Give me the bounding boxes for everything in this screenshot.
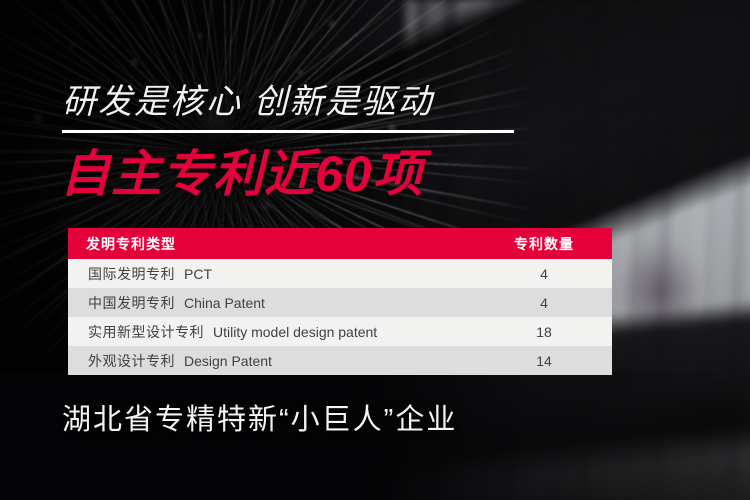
patent-type-en: Utility model design patent [213, 324, 377, 340]
cell-patent-type: 国际发明专利PCT [68, 264, 484, 284]
patent-type-en: Design Patent [184, 353, 272, 369]
headline-primary: 研发是核心 创新是驱动 [62, 80, 433, 124]
banner-caption: 湖北省专精特新“小巨人”企业 [62, 400, 457, 440]
cell-patent-type: 中国发明专利China Patent [68, 293, 484, 313]
table-row: 国际发明专利PCT 4 [68, 259, 612, 288]
cell-patent-type: 实用新型设计专利Utility model design patent [68, 322, 484, 342]
table-row: 实用新型设计专利Utility model design patent 18 [68, 317, 612, 346]
cell-patent-count: 14 [484, 353, 612, 369]
patent-type-cn: 实用新型设计专利 [88, 324, 204, 340]
cell-patent-count: 18 [484, 324, 612, 340]
patent-type-cn: 外观设计专利 [88, 353, 175, 369]
column-header-patent-type: 发明专利类型 [68, 234, 484, 254]
patent-type-cn: 中国发明专利 [88, 295, 175, 311]
banner-content: 研发是核心 创新是驱动 自主专利近60项 发明专利类型 专利数量 国际发明专利P… [0, 0, 750, 500]
cell-patent-type: 外观设计专利Design Patent [68, 351, 484, 371]
cell-patent-count: 4 [484, 266, 612, 282]
headline-divider [62, 130, 514, 133]
cell-patent-count: 4 [484, 295, 612, 311]
patent-type-en: PCT [184, 266, 212, 282]
table-row: 中国发明专利China Patent 4 [68, 288, 612, 317]
table-header-row: 发明专利类型 专利数量 [68, 228, 612, 259]
headline-secondary: 自主专利近60项 [60, 145, 424, 203]
column-header-patent-count: 专利数量 [484, 234, 612, 254]
patent-type-en: China Patent [184, 295, 265, 311]
patent-type-cn: 国际发明专利 [88, 266, 175, 282]
patent-table: 发明专利类型 专利数量 国际发明专利PCT 4 中国发明专利China Pate… [68, 228, 612, 375]
promo-banner: 研发是核心 创新是驱动 自主专利近60项 发明专利类型 专利数量 国际发明专利P… [0, 0, 750, 500]
table-row: 外观设计专利Design Patent 14 [68, 346, 612, 375]
